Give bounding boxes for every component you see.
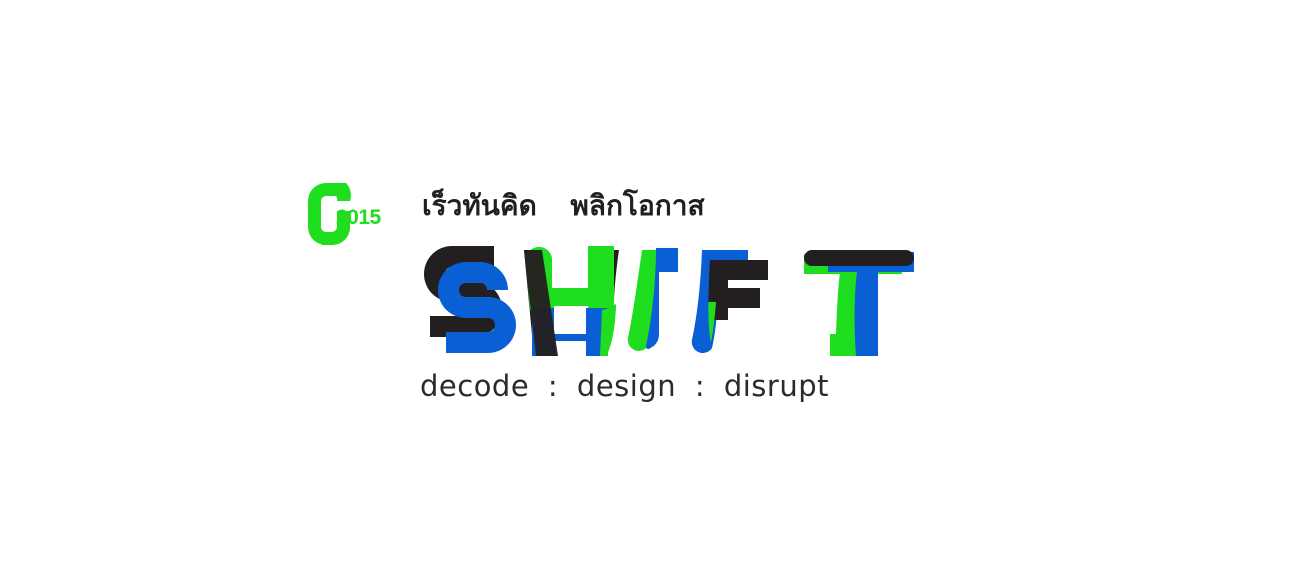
tagline-separator-2: : bbox=[686, 369, 714, 403]
thai-headline-word-1: เร็วทันคิด bbox=[422, 189, 537, 222]
wordmark-letter-f bbox=[692, 250, 768, 353]
brand-lockup: 2015 เร็วทันคิด พลิกโอกาส bbox=[298, 178, 948, 408]
tagline-item-design: design bbox=[577, 369, 676, 403]
wordmark-letter-t bbox=[804, 250, 914, 356]
logo-canvas: 2015 เร็วทันคิด พลิกโอกาส bbox=[0, 0, 1300, 587]
interlocking-c-mark-icon: 2015 bbox=[298, 183, 360, 245]
wordmark-letter-s bbox=[424, 246, 516, 353]
thai-headline: เร็วทันคิด พลิกโอกาส bbox=[422, 192, 705, 220]
tagline-separator-1: : bbox=[539, 369, 567, 403]
shift-wordmark bbox=[416, 238, 926, 363]
year-label: 2015 bbox=[336, 207, 381, 228]
wordmark-letter-h bbox=[524, 246, 619, 356]
wordmark-letter-i bbox=[628, 248, 678, 351]
tagline-item-disrupt: disrupt bbox=[724, 369, 829, 403]
tagline: decode : design : disrupt bbox=[420, 372, 829, 401]
tagline-item-decode: decode bbox=[420, 369, 529, 403]
thai-headline-word-2: พลิกโอกาส bbox=[570, 189, 704, 222]
